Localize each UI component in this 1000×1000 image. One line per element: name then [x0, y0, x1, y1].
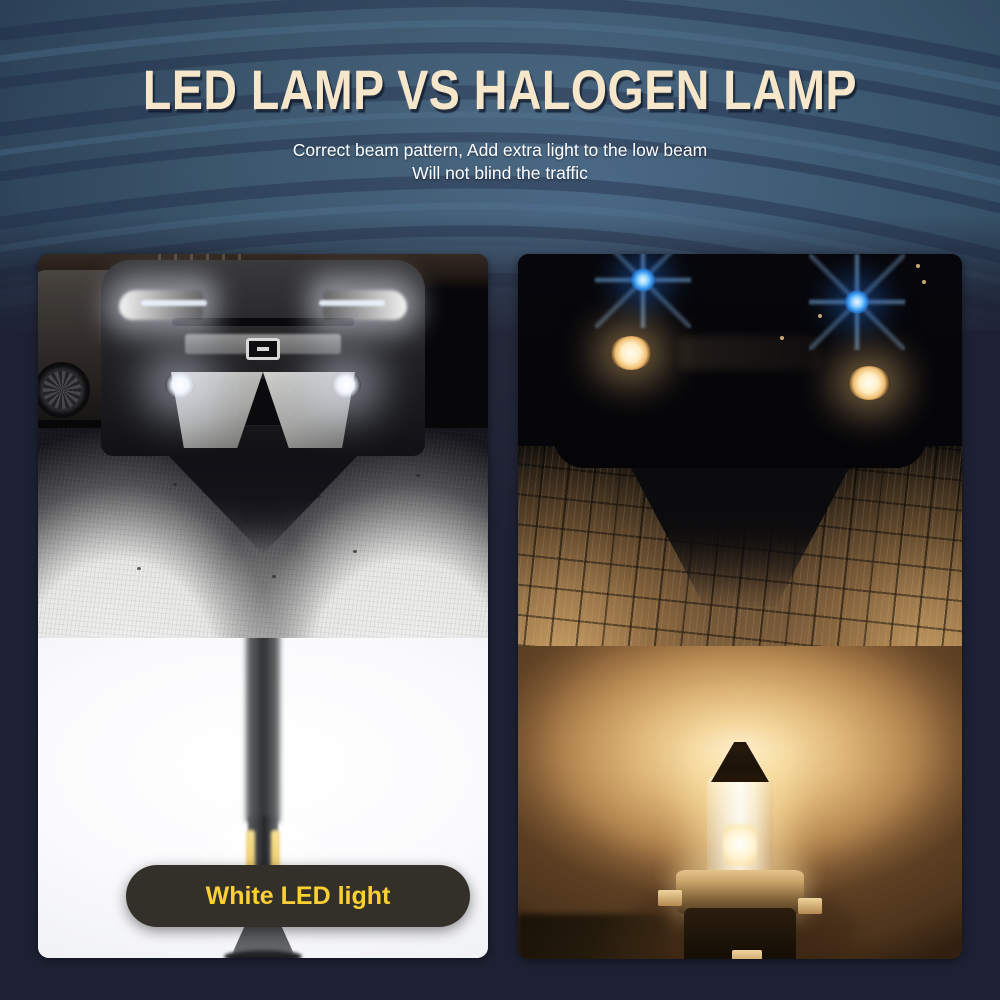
led-base-ring-1: [224, 950, 302, 958]
fog-lamp-right: [331, 372, 361, 398]
halogen-headlight-night-photo: [518, 254, 962, 646]
base-tab-right: [798, 898, 822, 914]
status-badge-white-led: White LED light: [126, 865, 470, 927]
dark-car-front: [554, 254, 927, 468]
subtitle-line-2: Will not blind the traffic: [0, 162, 1000, 185]
drl-strip-left: [141, 300, 207, 306]
blue-accent-led-left: [630, 268, 656, 292]
halogen-fog-lamp-left: [610, 336, 652, 370]
led-headlight-night-photo: [38, 254, 488, 638]
page-title: LED LAMP VS HALOGEN LAMP: [5, 62, 995, 117]
wheel-icon: [38, 362, 90, 418]
blue-accent-led-right: [844, 290, 870, 314]
fog-lamp-left: [165, 372, 195, 398]
page-subtitle: Correct beam pattern, Add extra light to…: [0, 139, 1000, 185]
led-badge-label: White LED light: [206, 882, 391, 911]
halogen-wire-harness: [518, 914, 668, 959]
dim-badge-text: [680, 336, 820, 370]
base-tab-left: [658, 890, 682, 906]
subtitle-line-1: Correct beam pattern, Add extra light to…: [293, 140, 707, 160]
halogen-comparison-panel: yellow halogen lamp: [518, 254, 962, 959]
halogen-bulb-product-photo: [518, 646, 962, 959]
drl-strip-right: [319, 300, 385, 306]
halogen-fog-lamp-right: [848, 366, 890, 400]
halogen-filament-glow: [723, 824, 757, 866]
honda-logo-icon: [246, 338, 280, 360]
header: LED LAMP VS HALOGEN LAMP Correct beam pa…: [0, 0, 1000, 185]
base-tab-bottom: [732, 950, 762, 959]
civic-front-body: [101, 260, 425, 456]
led-comparison-panel: White LED light: [38, 254, 488, 958]
led-bulb-shaft: [246, 638, 280, 822]
